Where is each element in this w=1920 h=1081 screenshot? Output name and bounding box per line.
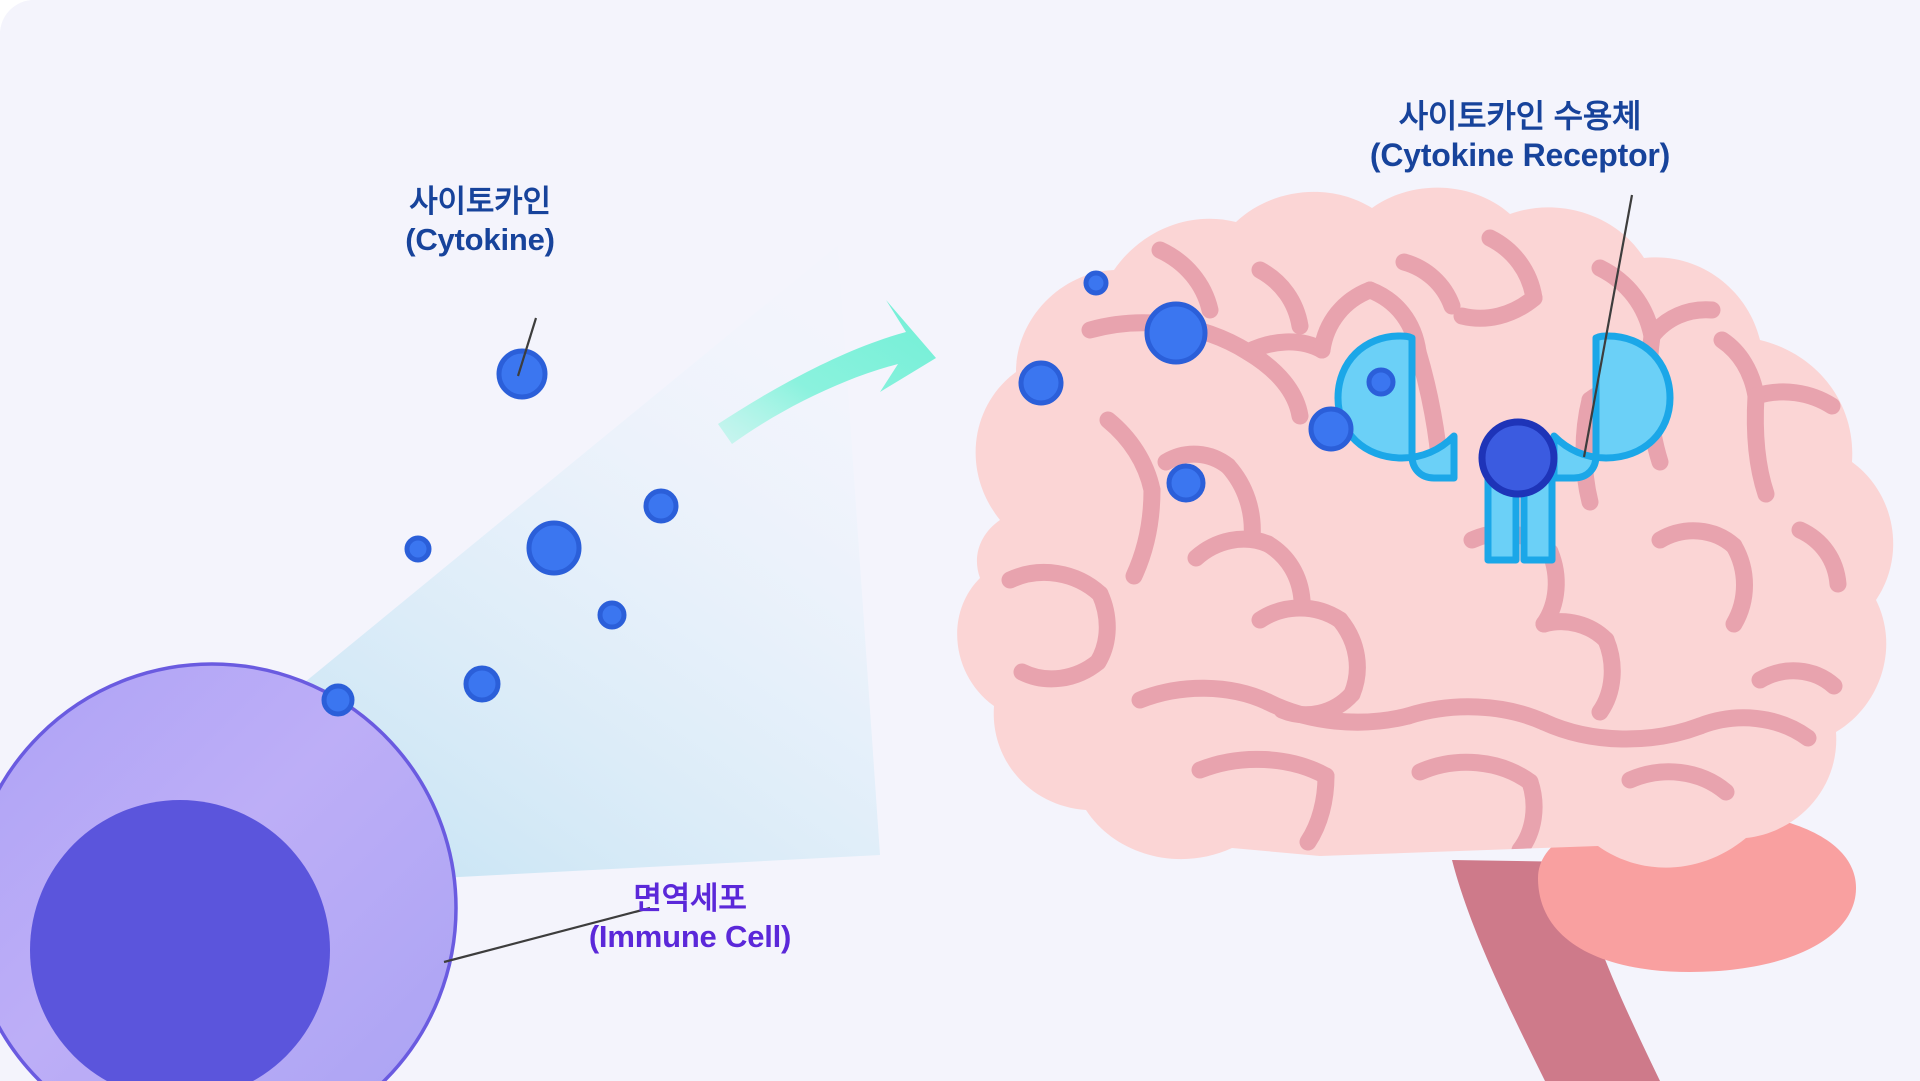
- cytokine-dot: [600, 603, 624, 627]
- cytokine-dot: [407, 538, 429, 560]
- label-cytokine-receptor-en: (Cytokine Receptor): [1250, 136, 1790, 175]
- cytokine-dot: [1021, 363, 1061, 403]
- cytokine-dot: [324, 686, 352, 714]
- cytokine-dot: [646, 491, 676, 521]
- cytokine-dot: [466, 668, 498, 700]
- cytokine-dot: [1169, 466, 1203, 500]
- label-immune-cell-en: (Immune Cell): [470, 918, 910, 956]
- cytokine-dot: [529, 523, 579, 573]
- label-cytokine-receptor-ko: 사이토카인 수용체: [1250, 97, 1790, 136]
- cytokine-dot: [499, 351, 545, 397]
- cytokine-dot: [1147, 304, 1205, 362]
- label-cytokine-receptor: 사이토카인 수용체 (Cytokine Receptor): [1250, 97, 1790, 175]
- label-cytokine-en: (Cytokine): [310, 221, 650, 259]
- label-immune-cell: 면역세포 (Immune Cell): [470, 880, 910, 956]
- label-cytokine-ko: 사이토카인: [310, 183, 650, 221]
- receptor-bound-cytokine: [1482, 422, 1554, 494]
- cytokine-dot: [1369, 370, 1393, 394]
- cytokine-dot: [1086, 273, 1106, 293]
- diagram-canvas: 사이토카인 (Cytokine) 사이토카인 수용체 (Cytokine Rec…: [0, 0, 1920, 1081]
- cytokine-dot: [1311, 409, 1351, 449]
- label-cytokine: 사이토카인 (Cytokine): [310, 183, 650, 259]
- label-immune-cell-ko: 면역세포: [470, 880, 910, 918]
